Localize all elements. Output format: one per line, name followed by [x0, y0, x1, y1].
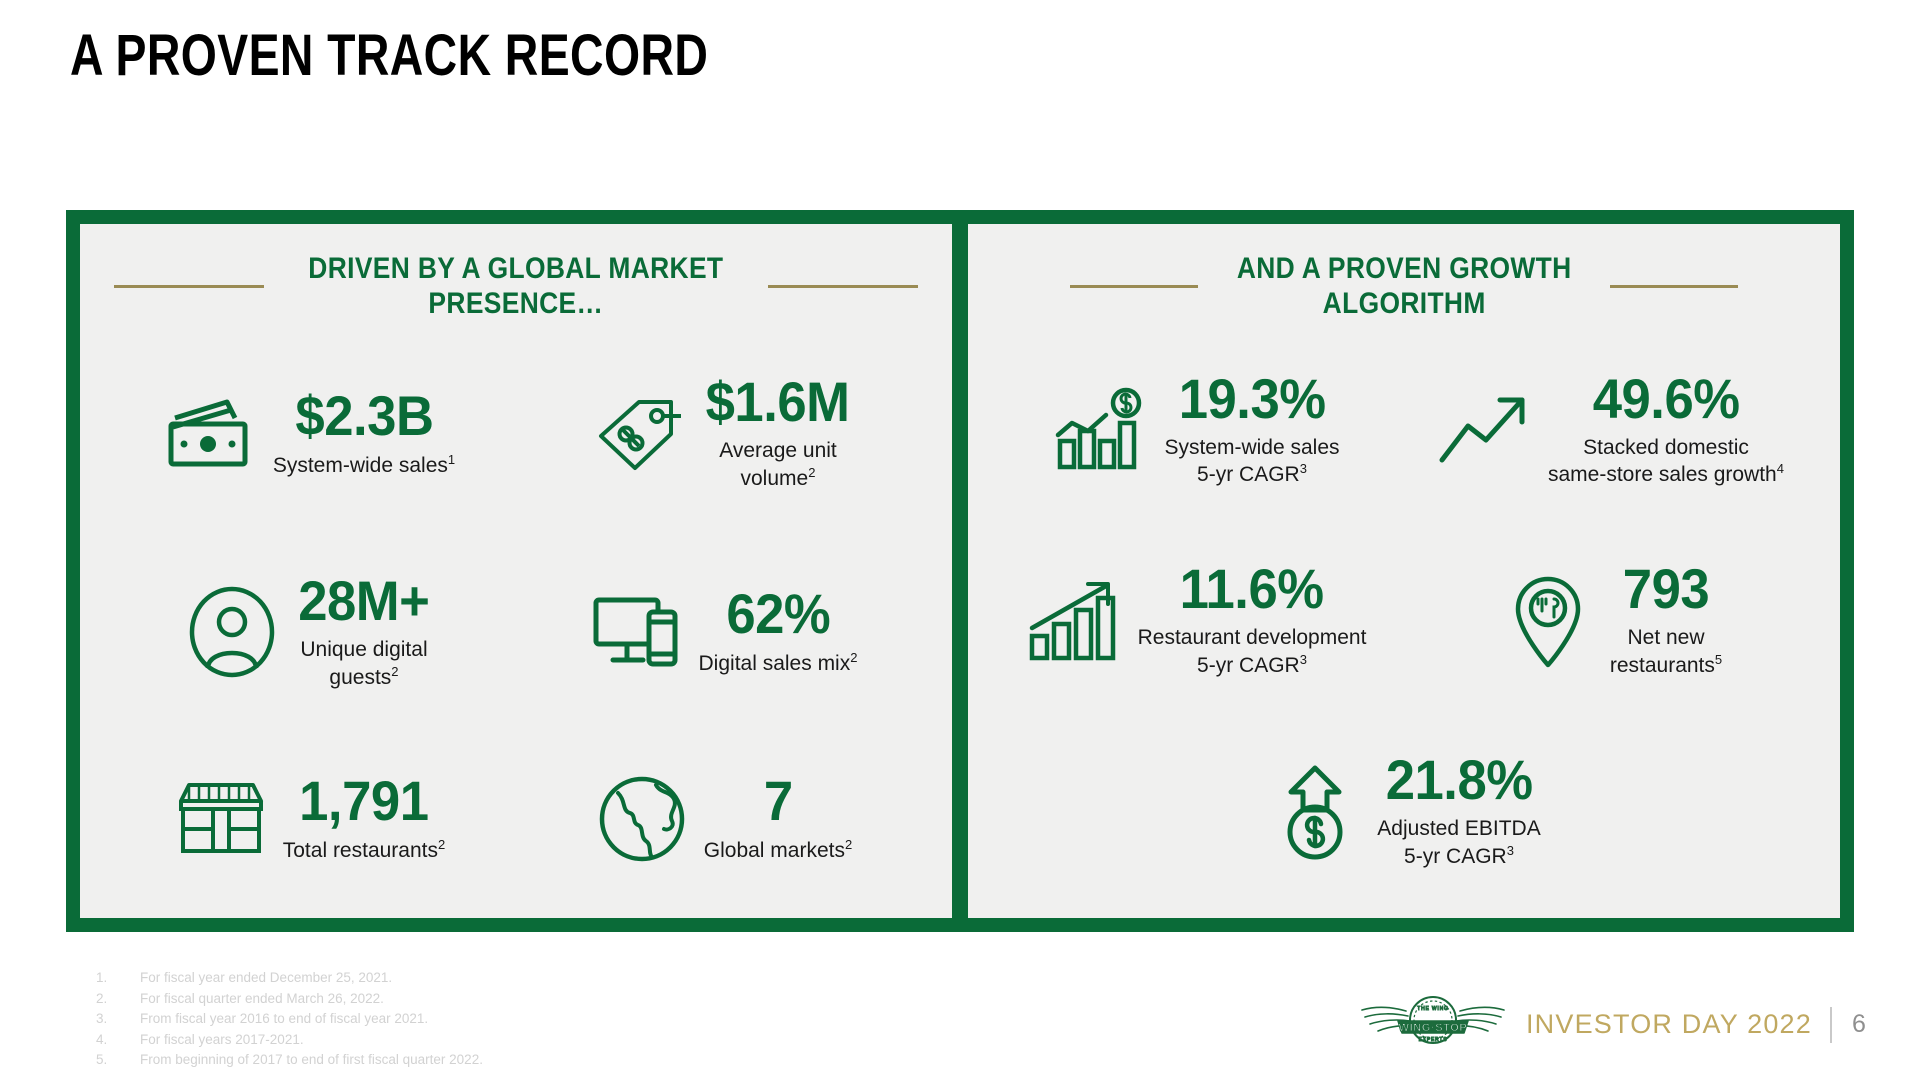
footer-divider	[1830, 1007, 1832, 1043]
left-panel-title: DRIVEN BY A GLOBAL MARKET PRESENCE…	[308, 252, 723, 322]
svg-text:EXPERTS: EXPERTS	[1419, 1037, 1448, 1043]
stat-text: $1.6M Average unit volume2	[701, 374, 854, 493]
stat-value: 793	[1623, 561, 1709, 617]
footnote-text: From fiscal year 2016 to end of fiscal y…	[140, 1009, 428, 1030]
stat-label: Average unit volume2	[719, 438, 837, 493]
stat-label: Global markets2	[704, 837, 852, 865]
gold-rule-right	[1610, 285, 1738, 288]
stat-value: 21.8%	[1386, 752, 1533, 808]
footnote-text: For fiscal quarter ended March 26, 2022.	[140, 989, 384, 1010]
user-circle-icon	[184, 584, 280, 680]
storefront-icon	[173, 771, 269, 867]
dollar-coin-up-arrow-icon	[1267, 764, 1363, 860]
stat-value: 7	[764, 773, 793, 829]
slide-footer: WING·STOP THE WING EXPERTS INVESTOR DAY …	[1358, 991, 1868, 1058]
monitor-phone-icon	[589, 584, 685, 680]
stat-label: Adjusted EBITDA 5-yr CAGR3	[1377, 816, 1540, 871]
footer-event-label: INVESTOR DAY 2022	[1526, 1009, 1812, 1040]
stat-text: 62% Digital sales mix2	[699, 586, 858, 678]
wingstop-logo: WING·STOP THE WING EXPERTS	[1358, 991, 1508, 1058]
stat-label: Stacked domestic same-store sales growth…	[1548, 435, 1784, 490]
stat-text: 49.6% Stacked domestic same-store sales …	[1548, 371, 1784, 490]
footnote-number: 4.	[96, 1030, 140, 1051]
stat-label: Unique digital guests2	[300, 637, 427, 692]
stat-text: 7 Global markets2	[704, 773, 852, 865]
svg-text:THE WING: THE WING	[1417, 1006, 1448, 1012]
trend-arrow-icon	[1438, 382, 1534, 478]
stat-item: 1,791 Total restaurants2	[102, 771, 516, 867]
stat-item: 793 Net new restaurants5	[1404, 561, 1818, 680]
stat-value: 62%	[726, 586, 830, 642]
map-pin-cutlery-icon	[1500, 573, 1596, 669]
stat-label: System-wide sales1	[273, 452, 455, 480]
footnote-number: 5.	[96, 1050, 140, 1071]
footnote-item: 5. From beginning of 2017 to end of firs…	[96, 1050, 483, 1071]
stat-text: $2.3B System-wide sales1	[273, 388, 455, 480]
stat-text: 21.8% Adjusted EBITDA 5-yr CAGR3	[1377, 752, 1540, 871]
stat-text: 1,791 Total restaurants2	[283, 773, 446, 865]
stat-value: 11.6%	[1180, 561, 1324, 617]
right-panel-title: AND A PROVEN GROWTH ALGORITHM	[1237, 252, 1572, 322]
stat-value: $2.3B	[295, 388, 433, 444]
footnotes-list: 1. For fiscal year ended December 25, 20…	[96, 968, 483, 1071]
cash-bills-icon	[163, 386, 259, 482]
footnote-text: From beginning of 2017 to end of first f…	[140, 1050, 483, 1071]
footnote-item: 2. For fiscal quarter ended March 26, 20…	[96, 989, 483, 1010]
stat-value: $1.6M	[706, 374, 850, 430]
stat-text: 11.6% Restaurant development 5-yr CAGR3	[1138, 561, 1367, 680]
stat-label: Total restaurants2	[283, 837, 446, 865]
stat-label: Restaurant development 5-yr CAGR3	[1138, 625, 1367, 680]
stat-item: 62% Digital sales mix2	[516, 573, 930, 692]
footnote-text: For fiscal year ended December 25, 2021.	[140, 968, 392, 989]
bar-chart-dollar-icon	[1054, 382, 1150, 478]
stat-value: 28M+	[298, 573, 429, 629]
right-panel-header: AND A PROVEN GROWTH ALGORITHM	[990, 252, 1818, 322]
footnote-text: For fiscal years 2017-2021.	[140, 1030, 304, 1051]
stat-item: 11.6% Restaurant development 5-yr CAGR3	[990, 561, 1404, 680]
stat-text: 793 Net new restaurants5	[1610, 561, 1722, 680]
stat-text: 28M+ Unique digital guests2	[294, 573, 434, 692]
gold-rule-left	[1070, 285, 1198, 288]
stat-value: 1,791	[299, 773, 428, 829]
stat-item: 19.3% System-wide sales 5-yr CAGR3	[990, 371, 1404, 490]
stats-frame: DRIVEN BY A GLOBAL MARKET PRESENCE…	[66, 210, 1854, 932]
stat-item: 28M+ Unique digital guests2	[102, 573, 516, 692]
stat-label: Net new restaurants5	[1610, 625, 1722, 680]
left-stat-grid: $2.3B System-wide sales1	[102, 338, 930, 904]
right-panel: AND A PROVEN GROWTH ALGORITHM	[968, 224, 1840, 918]
stat-item: 49.6% Stacked domestic same-store sales …	[1404, 371, 1818, 490]
stat-item: 7 Global markets2	[516, 771, 930, 867]
globe-icon	[594, 771, 690, 867]
stat-value: 19.3%	[1179, 371, 1326, 427]
page-number: 6	[1850, 1010, 1868, 1039]
left-panel: DRIVEN BY A GLOBAL MARKET PRESENCE…	[80, 224, 952, 918]
page-title: A PROVEN TRACK RECORD	[70, 22, 708, 89]
gold-rule-left	[114, 285, 264, 288]
stat-item: $1.6M Average unit volume2	[516, 374, 930, 493]
stat-label: System-wide sales 5-yr CAGR3	[1164, 435, 1339, 490]
footnote-item: 4. For fiscal years 2017-2021.	[96, 1030, 483, 1051]
footnote-number: 2.	[96, 989, 140, 1010]
right-stat-grid: 19.3% System-wide sales 5-yr CAGR3 49.6%…	[990, 338, 1818, 904]
bar-chart-arrow-icon	[1028, 573, 1124, 669]
stat-item: $2.3B System-wide sales1	[102, 374, 516, 493]
footnote-number: 3.	[96, 1009, 140, 1030]
footnote-item: 3. From fiscal year 2016 to end of fisca…	[96, 1009, 483, 1030]
footnote-item: 1. For fiscal year ended December 25, 20…	[96, 968, 483, 989]
footnote-number: 1.	[96, 968, 140, 989]
stat-item: 21.8% Adjusted EBITDA 5-yr CAGR3	[990, 752, 1818, 871]
left-panel-header: DRIVEN BY A GLOBAL MARKET PRESENCE…	[102, 252, 930, 322]
stat-label: Digital sales mix2	[699, 650, 858, 678]
price-tag-dollar-icon	[591, 386, 687, 482]
stat-text: 19.3% System-wide sales 5-yr CAGR3	[1164, 371, 1339, 490]
gold-rule-right	[768, 285, 918, 288]
svg-text:WING·STOP: WING·STOP	[1399, 1022, 1468, 1034]
stat-value: 49.6%	[1593, 371, 1740, 427]
